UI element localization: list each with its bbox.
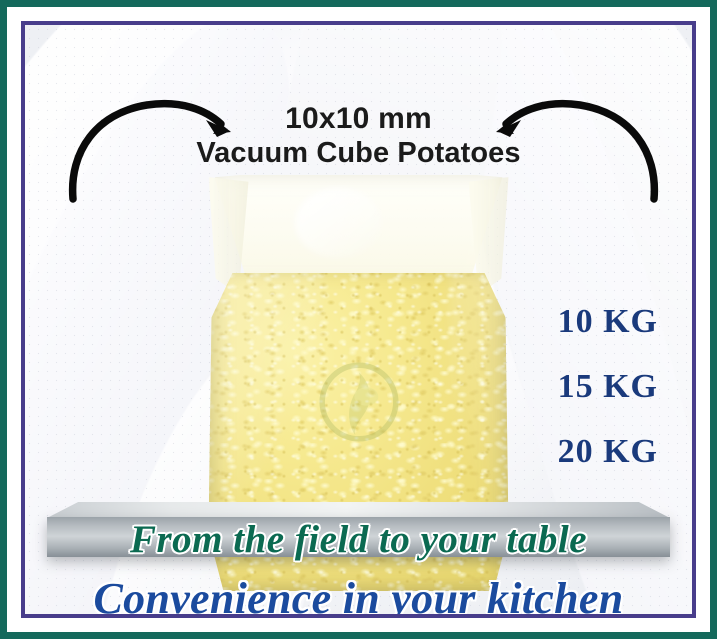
shelf-front-face [47,517,670,557]
curved-arrow-right-icon [63,87,253,205]
metal-display-shelf [47,502,670,558]
poster-inner-frame: 10x10 mm Vacuum Cube Potatoes 10 KG 15 K… [21,21,696,618]
bag-plastic-neck [215,175,503,287]
weight-option-20kg[interactable]: 20 KG [558,435,658,469]
weight-option-10kg[interactable]: 10 KG [558,305,658,339]
shelf-top-surface [47,502,670,518]
curved-arrow-left-icon [474,87,664,205]
weight-option-15kg[interactable]: 15 KG [558,370,658,404]
weight-options-list: 10 KG 15 KG 20 KG [558,305,658,469]
product-poster: 10x10 mm Vacuum Cube Potatoes 10 KG 15 K… [0,0,717,639]
